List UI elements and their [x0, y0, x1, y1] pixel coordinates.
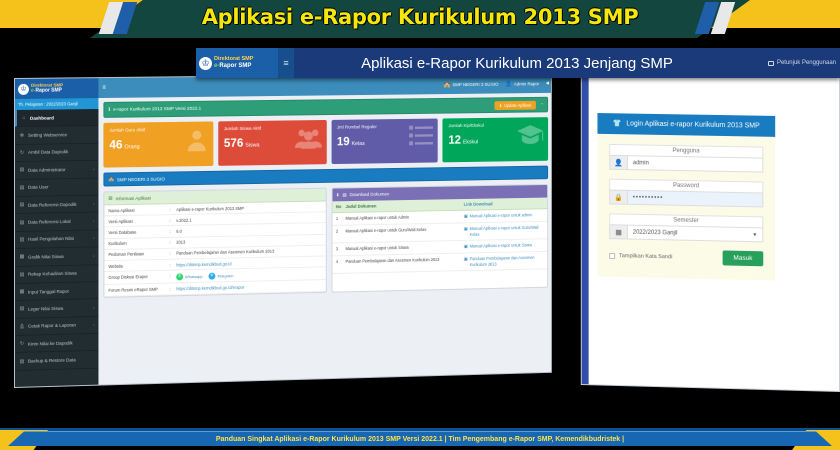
info-icon: ℹ: [108, 107, 110, 112]
column-no: No: [336, 204, 346, 210]
download-panel: ⬇ ▤ Download Dokumen No Judul Dokumen Li…: [331, 184, 548, 292]
semester-group: Semester ▦ 2022/2023 Ganjil ▼: [609, 214, 763, 243]
stat-card[interactable]: Jumlah Siswa Aktif576Siswa: [218, 120, 326, 166]
calendar-icon: ▦: [610, 226, 628, 239]
sidebar-item-grafik-nilai-siswa[interactable]: ▦Grafik Nilai Siswa›: [15, 247, 98, 266]
info-value: 6.0: [176, 229, 182, 234]
page-title: Aplikasi e-Rapor Kurikulum 2013 SMP: [0, 0, 840, 34]
book-icon: ▤: [342, 192, 346, 198]
login-panel: 👕 Login Aplikasi e-rapor Kurikulum 2013 …: [597, 113, 775, 281]
school-icon: 🏫: [443, 81, 450, 88]
download-icon: ⬇: [499, 103, 502, 108]
school-bar-text: SMP NEGERI 3 SUGIO: [117, 176, 165, 182]
school-icon: 🏫: [108, 176, 114, 182]
navbar-collapse-icon[interactable]: ◀: [546, 80, 549, 86]
pdf-icon: ▣: [464, 226, 468, 237]
sidebar-item-rekap-kehadiran-siswa[interactable]: ▤Rekap Kehadiran Siswa: [15, 265, 98, 284]
sidebar-item-label: Grafik Nilai Siswa: [28, 254, 64, 260]
pdf-icon: ▣: [464, 257, 468, 268]
login-form: Pengguna 👤 admin Password 🔒 •••••••••• S…: [597, 134, 775, 281]
download-link-label: Manual Aplikasi e-rapor untuk admin: [470, 212, 532, 219]
graduation-icon: [516, 123, 544, 152]
column-link: Link Download: [464, 200, 544, 207]
app-header-title: Aplikasi e-Rapor Kurikulum 2013 Jenjang …: [294, 55, 840, 72]
stat-card[interactable]: Jumlah Kip/Ekskul12Ekskul: [443, 117, 548, 162]
book-icon: ▤: [19, 202, 25, 208]
stat-card-value: 12: [448, 133, 461, 147]
stat-card-unit: Ekskul: [463, 139, 478, 145]
login-title: Login Aplikasi e-rapor Kurikulum 2013 SM…: [626, 119, 759, 131]
list-icon: ▤: [19, 271, 25, 277]
sidebar-item-label: Data Referensi Lokal: [28, 219, 71, 225]
download-link[interactable]: ▣Manual Aplikasi e-rapor untuk Guru/Wali…: [464, 225, 544, 237]
save-icon: ▤: [19, 358, 25, 364]
sidebar-item-label: Dashboard: [30, 115, 54, 120]
sidebar: ♔ Direktorat SMP e-Rapor SMP Th. Pelajar…: [15, 78, 98, 388]
sidebar-item-label: Kirim Nilai ke Dapodik: [28, 340, 73, 346]
print-icon: ⎙: [19, 324, 25, 330]
upload-icon: ↻: [19, 341, 25, 347]
dashboard-window: ♔ Direktorat SMP e-Rapor SMP Th. Pelajar…: [14, 73, 552, 388]
app-menu-toggle[interactable]: ≡: [278, 48, 294, 78]
sidebar-item-label: Setting Webservice: [28, 132, 67, 138]
chevron-right-icon: ›: [93, 219, 94, 224]
sidebar-item-data-referensi-dapodik[interactable]: ▤Data Referensi Dapodik›: [15, 196, 98, 215]
top-banner: Aplikasi e-Rapor Kurikulum 2013 SMP: [0, 0, 840, 40]
login-panel-header: 👕 Login Aplikasi e-rapor Kurikulum 2013 …: [597, 113, 775, 137]
sidebar-item-cetak-rapor-laporan[interactable]: ⎙Cetak Rapor & Laporan›: [15, 317, 98, 336]
group-icon: [293, 126, 322, 157]
chat-group-label: Telegram: [217, 273, 233, 278]
submit-button[interactable]: Masuk: [722, 251, 763, 267]
sidebar-item-label: Input Tanggal Rapor: [28, 288, 69, 294]
info-key: Versi Aplikasi: [108, 218, 169, 224]
help-link[interactable]: Petunjuk Penggunaan: [768, 48, 836, 78]
username-group: Pengguna 👤 admin: [609, 144, 763, 173]
info-key: Kurikulum: [108, 240, 169, 246]
user-icon: [184, 127, 209, 158]
navbar-school[interactable]: 🏫SMP NEGERI 3 SUGIO: [443, 80, 498, 87]
home-icon: ⌂: [21, 115, 27, 121]
download-link[interactable]: ▣Panduan Pembelajaran dan Asesmen Kuriku…: [464, 255, 544, 267]
stat-card-value: 19: [337, 134, 350, 148]
download-link-label: Manual Aplikasi e-rapor untuk Siswa: [470, 243, 532, 250]
gear-icon: ✻: [19, 132, 25, 138]
book-icon: ▤: [19, 219, 25, 225]
sidebar-item-backup-restore-data[interactable]: ▤Backup & Restore Data: [15, 351, 98, 371]
sidebar-logo-line-2: e-Rapor SMP: [31, 88, 63, 94]
bottom-footer: Panduan Singkat Aplikasi e-Rapor Kurikul…: [0, 426, 840, 450]
refresh-icon: ↻: [19, 150, 25, 156]
sidebar-item-label: Leger Nilai Siswa: [28, 306, 63, 312]
column-title: Judul Dokumen: [346, 202, 464, 210]
info-key: Nama Aplikasi: [108, 207, 169, 213]
sidebar-item-label: Ambil Data Dapodik: [28, 150, 68, 156]
graph-icon: ▦: [19, 254, 25, 260]
semester-select[interactable]: 2022/2023 Ganjil ▼: [628, 226, 762, 242]
lock-icon: 🔒: [610, 191, 628, 204]
stat-card-unit: Kelas: [352, 141, 365, 147]
sidebar-item-ambil-data-dapodik[interactable]: ↻Ambil Data Dapodik: [15, 144, 98, 163]
password-group: Password 🔒 ••••••••••: [609, 179, 763, 208]
info-panel-title: Informasi Aplikasi: [116, 195, 151, 201]
show-password-checkbox[interactable]: [609, 253, 615, 259]
whatsapp-icon: ✆: [176, 273, 183, 280]
update-app-button[interactable]: ⬇ Update Aplikasi: [494, 100, 536, 109]
logo-emblem-icon: ♔: [199, 57, 212, 70]
info-panel: ▤ Informasi Aplikasi Nama Aplikasi:Aplik…: [103, 188, 326, 298]
shirt-icon: 👕: [613, 119, 622, 129]
sidebar-item-data-user[interactable]: ▤Data User: [15, 178, 98, 197]
sidebar-item-label: Data Administrator: [28, 167, 66, 173]
login-window-edge: [582, 73, 589, 386]
row-number: 4: [336, 259, 346, 264]
chevron-right-icon: ›: [93, 253, 94, 258]
version-text: e-rapor Kurikulum 2013 SMP Versi 2022.1: [113, 106, 201, 112]
info-value: Panduan Pembelajaran dan Asesmen Kurikul…: [176, 249, 274, 256]
footer-text: Panduan Singkat Aplikasi e-Rapor Kurikul…: [216, 436, 624, 443]
info-link[interactable]: https://ditsmp.kemdikbud.go.id/erapor: [176, 285, 244, 291]
info-value: 2013: [176, 240, 185, 245]
sidebar-item-input-tanggal-rapor[interactable]: ▦Input Tanggal Rapor: [15, 282, 98, 301]
chevron-right-icon: ›: [93, 167, 94, 172]
users-icon: ▤: [19, 185, 25, 191]
table-icon: ▤: [19, 306, 25, 312]
sidebar-item-kirim-nilai-ke-dapodik[interactable]: ↻Kirim Nilai ke Dapodik: [15, 334, 98, 353]
info-link[interactable]: https://ditsmp.kemdikbud.go.id: [176, 261, 231, 267]
dashboard-panels: ▤ Informasi Aplikasi Nama Aplikasi:Aplik…: [98, 179, 551, 297]
sidebar-toggle[interactable]: ≡: [102, 85, 105, 91]
pdf-icon: ▣: [464, 214, 468, 220]
navbar-user[interactable]: 👤Admin Rapor: [505, 80, 539, 87]
semester-value: 2022/2023 Ganjil: [633, 230, 678, 237]
download-icon: ⬇: [336, 192, 340, 198]
list-icon: [409, 124, 434, 151]
info-key: Versi Database: [108, 229, 169, 235]
app-header-bar: ♔ Direktorat SMP e-Rapor SMP ≡ Aplikasi …: [196, 48, 840, 78]
info-key: Forum Resmi eRapor SMP: [108, 286, 169, 292]
chat-group-label: Whatsapp: [185, 274, 203, 279]
chevron-right-icon: ›: [93, 305, 94, 310]
help-label: Petunjuk Penggunaan: [777, 60, 836, 66]
login-footer: Tampilkan Kata Sandi Masuk: [609, 248, 763, 266]
sidebar-item-label: Data Referensi Dapodik: [28, 202, 76, 208]
sidebar-item-hasil-pengolahan-nilai[interactable]: ▥Hasil Pengolahan Nilai›: [15, 230, 98, 249]
info-key: Group Diskusi Erapor: [108, 273, 169, 281]
database-icon: ▤: [19, 167, 25, 173]
chevron-right-icon: ›: [93, 201, 94, 206]
info-value: v.2022.1: [176, 217, 191, 222]
logo-emblem-icon: ♔: [18, 83, 29, 94]
app-logo[interactable]: ♔ Direktorat SMP e-Rapor SMP: [196, 48, 278, 78]
download-link-label: Panduan Pembelajaran dan Asesmen Kurikul…: [470, 255, 544, 267]
chat-group-link[interactable]: ✆Whatsapp: [176, 273, 202, 281]
stat-cards: Jumlah Guru Aktif46OrangJumlah Siswa Akt…: [98, 112, 551, 167]
sidebar-item-data-referensi-lokal[interactable]: ▤Data Referensi Lokal›: [15, 213, 98, 232]
username-input[interactable]: admin: [628, 157, 762, 172]
chat-group-link[interactable]: ✈Telegram: [209, 272, 234, 279]
footer-bar: Panduan Singkat Aplikasi e-Rapor Kurikul…: [8, 431, 832, 446]
dashboard-main: ≡ 🏫SMP NEGERI 3 SUGIO 👤Admin Rapor ◀ ℹ e…: [98, 73, 551, 386]
sidebar-item-data-administrator[interactable]: ▤Data Administrator›: [15, 161, 98, 180]
stat-card-unit: Orang: [124, 144, 139, 150]
logo-line-2: e-Rapor SMP: [214, 63, 253, 69]
user-icon: 👤: [610, 156, 628, 169]
sidebar-item-label: Rekap Kehadiran Siswa: [28, 271, 77, 277]
stat-card[interactable]: Jumlah Guru Aktif46Orang: [103, 121, 213, 167]
document-title: Manual Aplikasi e-rapor untuk Admin: [346, 214, 464, 222]
sidebar-item-label: Cetak Rapor & Laporan: [28, 323, 76, 329]
download-link-label: Manual Aplikasi e-rapor untuk Guru/Wali …: [470, 225, 544, 237]
row-number: 1: [336, 216, 346, 221]
login-window: 👕 Login Aplikasi e-rapor Kurikulum 2013 …: [581, 72, 840, 392]
chart-icon: ▥: [19, 237, 25, 243]
sidebar-logo[interactable]: ♔ Direktorat SMP e-Rapor SMP: [15, 78, 98, 99]
table-row: 4Panduan Pembelajaran dan Asesmen Kuriku…: [332, 252, 547, 274]
sidebar-item-leger-nilai-siswa[interactable]: ▤Leger Nilai Siswa›: [15, 299, 98, 318]
download-link[interactable]: ▣Manual Aplikasi e-rapor untuk admin: [464, 212, 544, 219]
info-key: Pedoman Penilaian: [108, 251, 169, 257]
row-number: 2: [336, 229, 346, 234]
stat-card-value: 576: [224, 136, 243, 150]
download-link[interactable]: ▣Manual Aplikasi e-rapor untuk Siswa: [464, 242, 544, 250]
footer-top-rule: [0, 428, 840, 431]
stat-card[interactable]: Jml Rombel Reguler19Kelas: [331, 119, 438, 165]
chevron-right-icon: ›: [93, 322, 94, 327]
user-icon: 👤: [505, 80, 512, 87]
pdf-icon: ▣: [464, 244, 468, 250]
stat-card-unit: Siswa: [245, 143, 259, 149]
chevron-down-icon: ▼: [752, 232, 757, 238]
document-title: Panduan Pembelajaran dan Asesmen Kurikul…: [346, 257, 464, 265]
password-input[interactable]: ••••••••••: [628, 191, 762, 207]
collapse-version-bar[interactable]: −: [541, 102, 544, 108]
row-number: 3: [336, 246, 346, 251]
sidebar-item-label: Hasil Pengolahan Nilai: [28, 236, 74, 242]
sidebar-item-label: Data User: [28, 185, 49, 190]
info-value: Aplikasi e-rapor Kurikulum 2013 SMP: [176, 205, 244, 211]
sidebar-item-dashboard[interactable]: ⌂Dashboard: [15, 109, 98, 127]
calendar-icon: ▦: [19, 289, 25, 295]
document-title: Manual Aplikasi e-rapor untuk Guru/Wali …: [346, 226, 464, 234]
chevron-right-icon: ›: [93, 236, 94, 241]
download-panel-title: Download Dokumen: [350, 192, 390, 198]
sidebar-item-setting-webservice[interactable]: ✻Setting Webservice: [15, 126, 98, 144]
document-title: Manual Aplikasi e-rapor untuk Siswa: [346, 244, 464, 252]
info-icon: ▤: [108, 195, 112, 201]
info-key: Website: [108, 262, 169, 268]
show-password-label: Tampilkan Kata Sandi: [619, 253, 672, 260]
sidebar-item-label: Backup & Restore Data: [28, 358, 76, 364]
telegram-icon: ✈: [209, 272, 216, 279]
stat-card-value: 46: [109, 138, 122, 152]
monitor-icon: [768, 61, 774, 66]
